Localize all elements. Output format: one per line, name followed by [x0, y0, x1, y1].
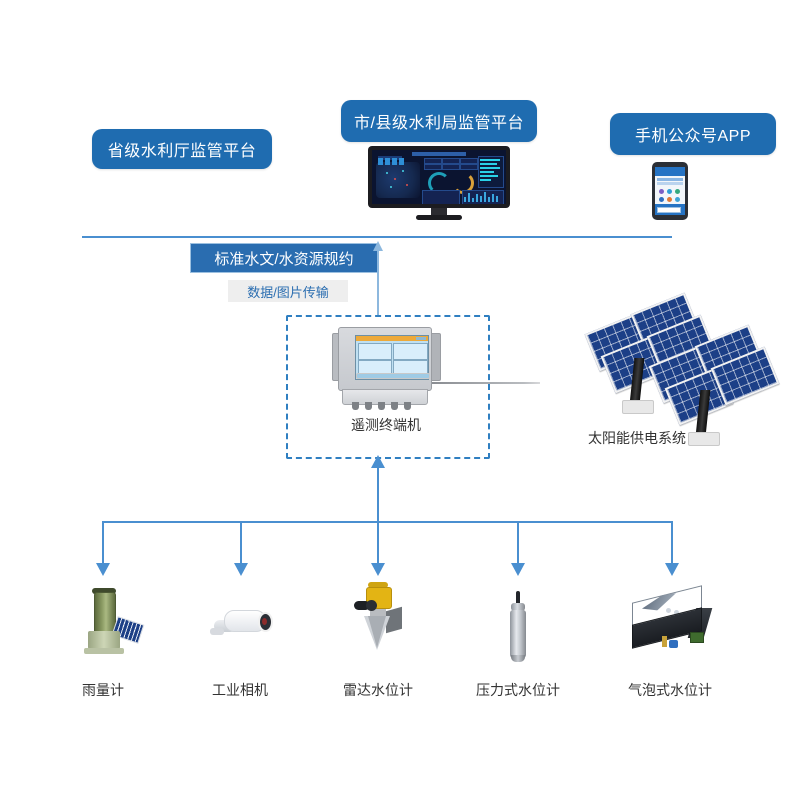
- sensor-uplink-shaft: [377, 468, 379, 523]
- sensor-label-camera: 工业相机: [175, 680, 305, 700]
- pressure-level-gauge-icon: [489, 591, 547, 666]
- solar-panel-icon: [588, 298, 778, 438]
- antenna-icon: [432, 382, 540, 384]
- sensor-drop-arrow-1: [96, 563, 110, 576]
- industrial-camera-icon: [208, 602, 274, 652]
- sensor-drop-5: [671, 521, 673, 565]
- sensor-drop-arrow-5: [665, 563, 679, 576]
- sensor-uplink-head: [371, 455, 385, 468]
- platform-mobile-app[interactable]: 手机公众号APP: [610, 113, 776, 155]
- uplink-backbone-line: [82, 236, 672, 238]
- diagram-canvas: 省级水利厅监管平台 市/县级水利局监管平台 手机公众号APP: [0, 0, 800, 800]
- sensor-label-radar-level: 雷达水位计: [313, 680, 443, 700]
- rtu-device-icon: [332, 327, 440, 409]
- bubbler-level-gauge-icon: [628, 590, 712, 660]
- solar-power-label: 太阳能供电系统: [588, 428, 738, 448]
- sensor-drop-arrow-4: [511, 563, 525, 576]
- sensor-drop-1: [102, 521, 104, 565]
- rain-gauge-icon: [76, 592, 142, 662]
- platform-city-county[interactable]: 市/县级水利局监管平台: [341, 100, 537, 142]
- telemetry-terminal-label: 遥测终端机: [286, 415, 486, 435]
- sensor-label-bubbler-level: 气泡式水位计: [605, 680, 735, 700]
- payload-label: 数据/图片传输: [228, 280, 348, 302]
- monitor-icon: [368, 146, 510, 221]
- radar-level-gauge-icon: [346, 587, 412, 657]
- sensor-drop-3: [377, 521, 379, 565]
- sensor-drop-arrow-2: [234, 563, 248, 576]
- uplink-arrow-head: [373, 241, 383, 251]
- protocol-label: 标准水文/水资源规约: [190, 243, 378, 273]
- sensor-label-pressure-level: 压力式水位计: [453, 680, 583, 700]
- sensor-bus-line: [102, 521, 672, 523]
- platform-provincial[interactable]: 省级水利厅监管平台: [92, 129, 272, 169]
- sensor-drop-4: [517, 521, 519, 565]
- smartphone-icon: [652, 162, 688, 220]
- sensor-drop-arrow-3: [371, 563, 385, 576]
- uplink-arrow-shaft: [377, 250, 379, 316]
- sensor-drop-2: [240, 521, 242, 565]
- sensor-label-rain-gauge: 雨量计: [38, 680, 168, 700]
